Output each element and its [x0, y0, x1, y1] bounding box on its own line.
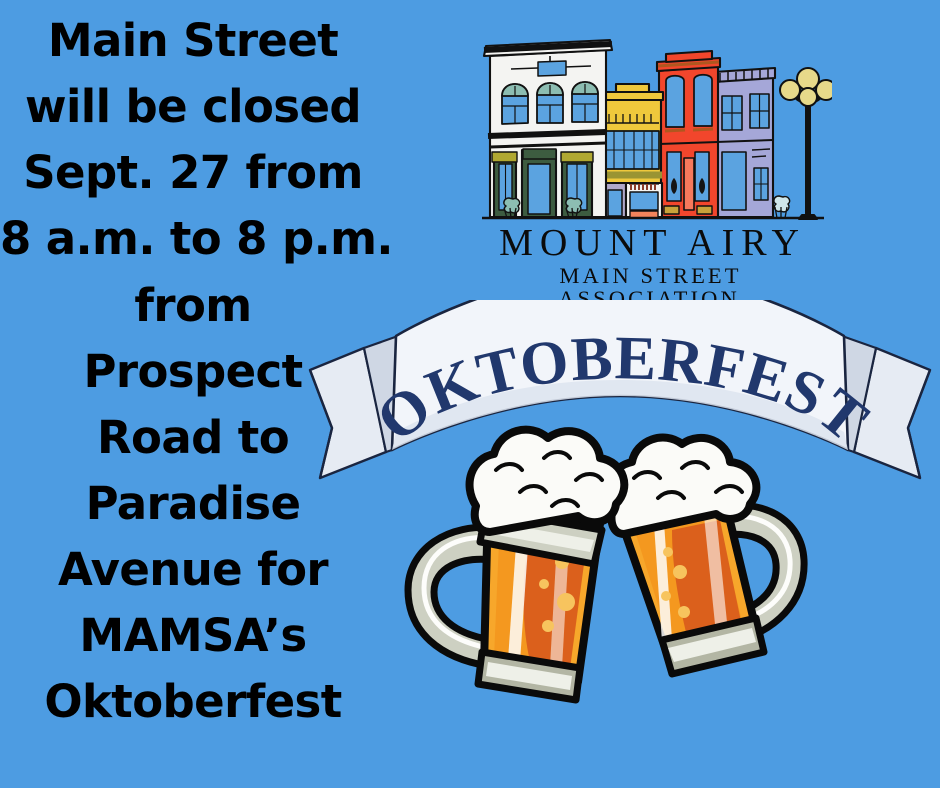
red-building-icon [657, 51, 720, 217]
announcement-line-2: will be closed [0, 74, 386, 140]
oktoberfest-road-closure-poster: Main Street will be closed Sept. 27 from… [0, 0, 940, 788]
yellow-building-icon [602, 84, 663, 218]
logo-wordmark: MOUNT AIRY MAIN STREET ASSOCIATION [466, 224, 832, 311]
streetscape-illustration-icon [466, 18, 832, 226]
announcement-line-3: Sept. 27 from [0, 140, 386, 206]
lavender-building-icon [714, 68, 775, 217]
beer-mugs-icon [372, 400, 832, 760]
mount-airy-main-street-association-logo: MOUNT AIRY MAIN STREET ASSOCIATION [466, 18, 832, 288]
announcement-line-1: Main Street [0, 8, 386, 74]
white-building-icon [484, 40, 612, 218]
beer-mug-right [607, 438, 804, 674]
street-lamp-icon [780, 68, 832, 219]
announcement-line-11: Oktoberfest [0, 669, 386, 735]
announcement-line-10: MAMSA’s [0, 603, 386, 669]
beer-mug-left [408, 430, 624, 700]
logo-name: MOUNT AIRY [466, 224, 832, 263]
announcement-line-4: 8 a.m. to 8 p.m. [0, 206, 386, 272]
announcement-line-9: Avenue for [0, 537, 386, 603]
